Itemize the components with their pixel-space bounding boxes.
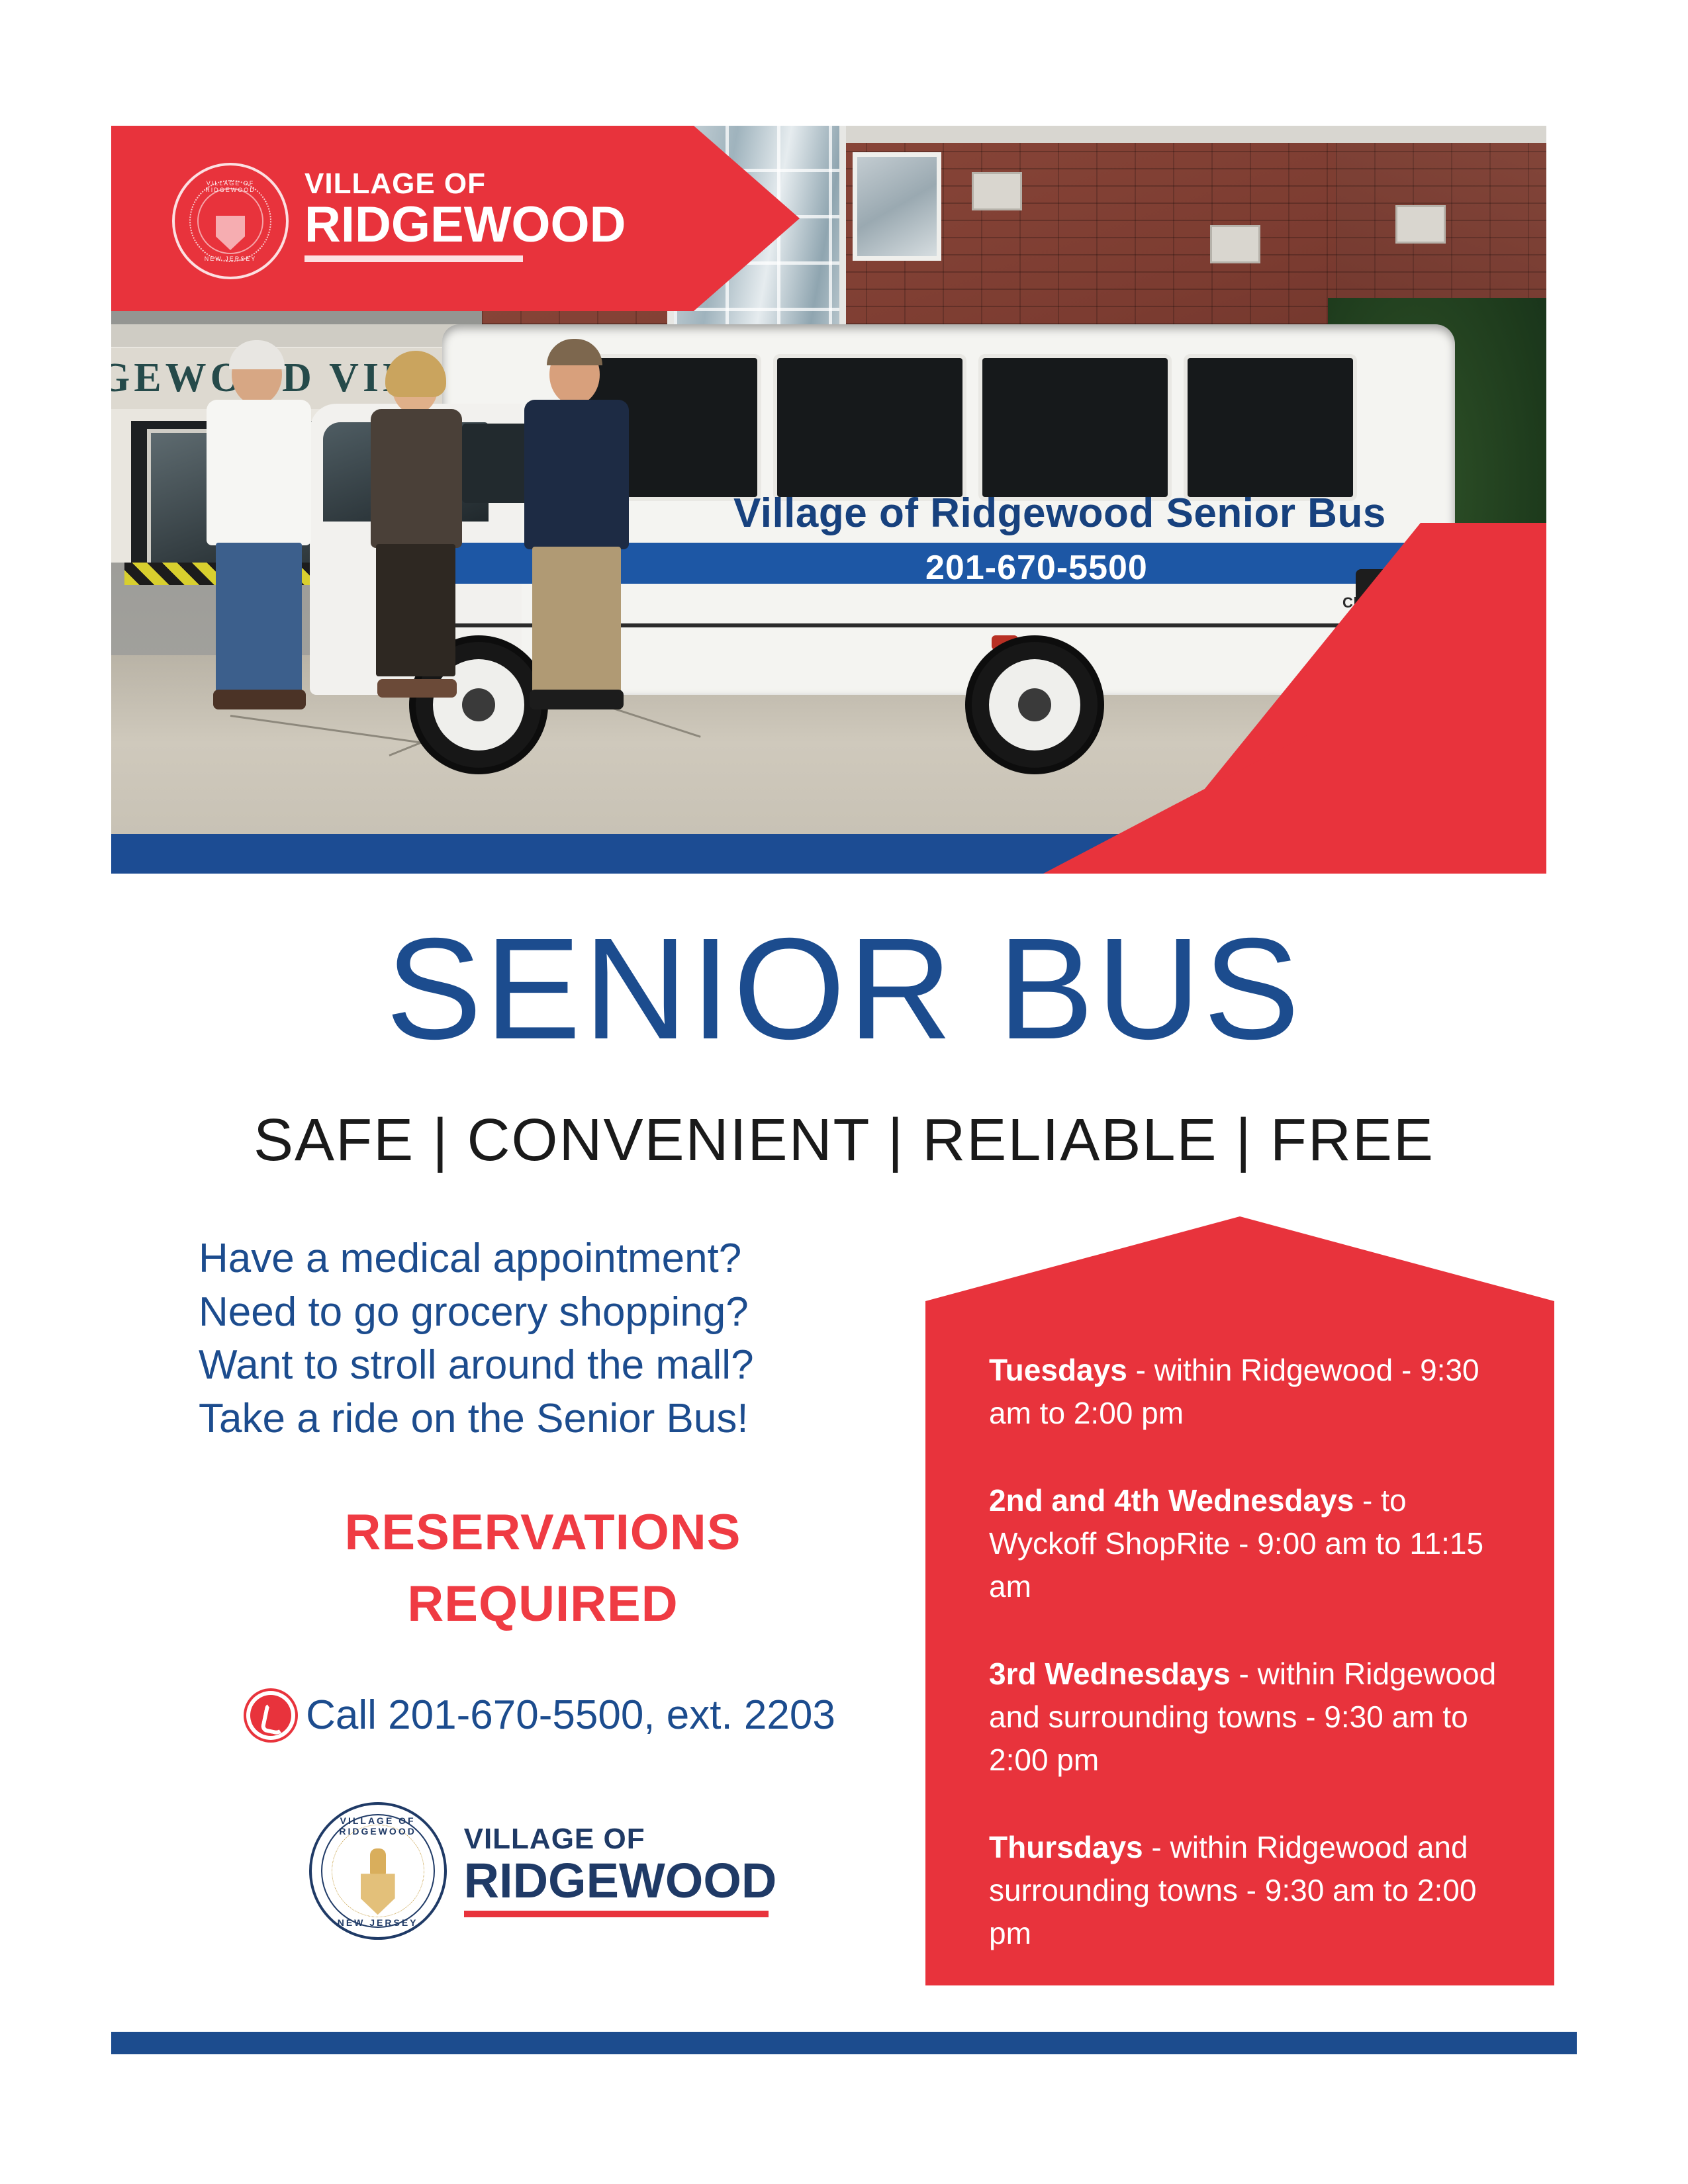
schedule-item: Thursdays - within Ridgewood and surroun… [989, 1826, 1515, 1956]
schedule-item: 2nd and 4th Wednesdays - to Wyckoff Shop… [989, 1479, 1515, 1609]
flyer-page: GEWOOD VILLAG Village of Ridgewood Senio… [0, 0, 1688, 2184]
person-skirt [376, 544, 455, 676]
bus-rear-wheel [972, 642, 1098, 768]
wall-vent [1395, 205, 1446, 244]
reservations-line1: RESERVATIONS [199, 1497, 887, 1569]
question-line: Take a ride on the Senior Bus! [199, 1392, 887, 1446]
reservations-notice: RESERVATIONS REQUIRED [199, 1497, 887, 1640]
seal-bottom-label: NEW JERSEY [191, 255, 270, 262]
bus-side-text: Village of Ridgewood Senior Bus [733, 490, 1386, 537]
schedule-day: Thursdays [989, 1830, 1143, 1864]
person-right [515, 344, 641, 715]
schedule-day: 2nd and 4th Wednesdays [989, 1483, 1354, 1518]
seal-bottom-label: NEW JERSEY [312, 1917, 444, 1928]
hero-photo: GEWOOD VILLAG Village of Ridgewood Senio… [111, 126, 1546, 874]
wheel-hub [1018, 688, 1051, 721]
person-pants [216, 543, 302, 695]
seal-top-label: VILLAGE OF RIDGEWOOD [191, 180, 270, 193]
left-column: Have a medical appointment? Need to go g… [199, 1232, 887, 1940]
person-left [197, 344, 323, 715]
footer-logo: VILLAGE OF RIDGEWOOD NEW JERSEY VILLAGE … [199, 1802, 887, 1940]
tagline: SAFE | CONVENIENT | RELIABLE | FREE [0, 1107, 1688, 1175]
schedule-list: Tuesdays - within Ridgewood - 9:30 am to… [989, 1349, 1515, 1999]
footer-logo-line1: VILLAGE OF [464, 1825, 777, 1854]
person-shoes [377, 679, 457, 698]
village-seal-icon: VILLAGE OF RIDGEWOOD NEW JERSEY [309, 1802, 447, 1940]
question-line: Have a medical appointment? [199, 1232, 887, 1286]
bus-window [773, 354, 966, 501]
banner-line2: RIDGEWOOD [305, 199, 626, 251]
schedule-day: 3rd Wednesdays [989, 1657, 1231, 1691]
footer-logo-line2: RIDGEWOOD [464, 1856, 777, 1905]
banner-wordmark: VILLAGE OF RIDGEWOOD [305, 169, 626, 262]
person-hair [229, 340, 285, 369]
banner-underline [305, 255, 523, 262]
logo-banner: VILLAGE OF RIDGEWOOD NEW JERSEY VILLAGE … [111, 126, 800, 311]
phone-icon [250, 1695, 291, 1736]
wheel-rim [989, 659, 1080, 751]
schedule-item: Tuesdays - within Ridgewood - 9:30 am to… [989, 1349, 1515, 1435]
call-text[interactable]: Call 201-670-5500, ext. 2203 [306, 1692, 835, 1739]
person-pants [532, 547, 621, 695]
seal-figure [370, 1848, 386, 1875]
wall-vent [972, 172, 1022, 210]
footer-rule [111, 2032, 1577, 2054]
schedule-day: Tuesdays [989, 1353, 1127, 1387]
person-hair [385, 351, 446, 397]
footer-wordmark: VILLAGE OF RIDGEWOOD [464, 1825, 777, 1917]
reservations-line2: REQUIRED [199, 1569, 887, 1640]
call-row[interactable]: Call 201-670-5500, ext. 2203 [199, 1692, 887, 1739]
question-line: Need to go grocery shopping? [199, 1286, 887, 1340]
wall-vent [1210, 225, 1260, 263]
bus-phone-number: 201-670-5500 [925, 548, 1148, 588]
bus-window [1184, 354, 1357, 501]
banner-line1: VILLAGE OF [305, 169, 626, 199]
person-shoes [213, 690, 306, 709]
page-title: SENIOR BUS [0, 907, 1688, 1072]
footer-logo-underline [464, 1911, 769, 1917]
person-blouse [371, 409, 462, 548]
question-line: Want to stroll around the mall? [199, 1339, 887, 1392]
seal-top-label: VILLAGE OF RIDGEWOOD [312, 1815, 444, 1837]
window [853, 152, 941, 261]
person-center [356, 357, 475, 715]
person-shirt [207, 400, 311, 545]
person-shoes [530, 690, 624, 709]
seal-inner-ring: VILLAGE OF RIDGEWOOD NEW JERSEY [189, 180, 271, 262]
village-seal-icon: VILLAGE OF RIDGEWOOD NEW JERSEY [172, 163, 289, 279]
schedule-item: 3rd Wednesdays - within Ridgewood and su… [989, 1653, 1515, 1782]
schedule-panel: Tuesdays - within Ridgewood - 9:30 am to… [925, 1216, 1554, 1985]
bus-window [978, 354, 1172, 501]
person-shirt [524, 400, 629, 549]
